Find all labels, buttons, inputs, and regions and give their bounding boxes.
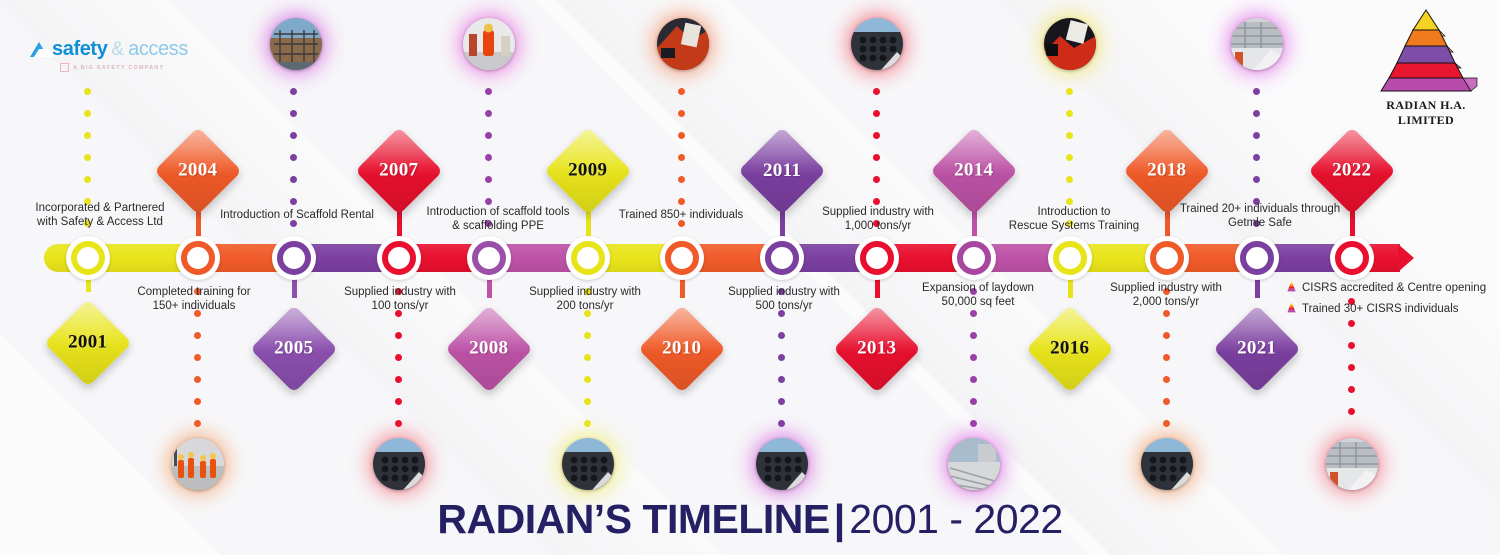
photo-crew-orange	[172, 438, 224, 490]
bubble-photo	[756, 438, 808, 490]
company-name: RADIAN H.A. LIMITED	[1360, 98, 1492, 128]
square-icon	[60, 63, 69, 72]
timeline-node[interactable]	[1330, 236, 1374, 280]
lbl-2004: Completed training for 150+ individuals	[99, 285, 289, 313]
cisrs-item: Trained 30+ CISRS individuals	[1286, 300, 1486, 318]
timeline-node[interactable]	[176, 236, 220, 280]
bubble-photo	[948, 438, 1000, 490]
timeline-node[interactable]	[377, 236, 421, 280]
lbl-2010: Trained 850+ individuals	[586, 208, 776, 222]
timeline-node[interactable]	[467, 236, 511, 280]
photo-pipe-stack-a	[373, 438, 425, 490]
timeline-node[interactable]	[855, 236, 899, 280]
timeline-node[interactable]	[760, 236, 804, 280]
timeline-node[interactable]	[660, 236, 704, 280]
safety-and-access-logo: safety & access A BIG SAFETY COMPANY	[30, 38, 188, 72]
bubble-photo	[1044, 18, 1096, 70]
lbl-2005: Introduction of Scaffold Rental	[202, 208, 392, 222]
lbl-2011: Supplied industry with 500 tons/yr	[689, 285, 879, 313]
photo-worker-ppe	[463, 18, 515, 70]
dotted-connector	[1163, 288, 1171, 442]
bubble-photo	[851, 18, 903, 70]
year-label: 2018	[1147, 160, 1186, 182]
year-label: 2004	[178, 160, 217, 182]
year-label: 2016	[1050, 338, 1089, 360]
lbl-2016: Introduction to Rescue Systems Training	[979, 205, 1169, 233]
lbl-2001: Incorporated & Partnered with Safety & A…	[5, 201, 195, 229]
lbl-2008: Introduction of scaffold tools & scaffol…	[403, 205, 593, 233]
lbl-2007: Supplied industry with 100 tons/yr	[305, 285, 495, 313]
bubble-photo	[270, 18, 322, 70]
year-label: 2013	[857, 338, 896, 360]
bubble-photo	[373, 438, 425, 490]
year-label: 2011	[763, 160, 801, 182]
bubble-photo	[172, 438, 224, 490]
timeline-node[interactable]	[566, 236, 610, 280]
cisrs-item-label: Trained 30+ CISRS individuals	[1302, 303, 1459, 315]
logo-word-access: access	[128, 38, 188, 61]
photo-pipe-stack-d	[1141, 438, 1193, 490]
timeline-node[interactable]	[952, 236, 996, 280]
photo-warehouse-2	[1326, 438, 1378, 490]
triangle-icon	[30, 42, 48, 57]
cisrs-bullet-list: CISRS accredited & Centre openingTrained…	[1286, 279, 1486, 321]
year-label: 2022	[1332, 160, 1371, 182]
photo-warehouse	[1231, 18, 1283, 70]
timeline-node[interactable]	[272, 236, 316, 280]
logo-word-safety: safety	[52, 38, 107, 61]
bubble-photo	[1326, 438, 1378, 490]
year-label: 2010	[662, 338, 701, 360]
title-bold: RADIAN’S TIMELINE	[437, 496, 829, 542]
lbl-2018: Supplied industry with 2,000 tons/yr	[1071, 281, 1261, 309]
bubble-photo	[562, 438, 614, 490]
year-label: 2007	[379, 160, 418, 182]
pyramid-bullet-icon	[1286, 279, 1297, 297]
year-label: 2014	[954, 160, 993, 182]
title-separator: |	[834, 496, 845, 542]
lbl-2013: Supplied industry with 1,000 tons/yr	[783, 205, 973, 233]
photo-pipe-stack-c	[756, 438, 808, 490]
photo-pipe-stack-top	[851, 18, 903, 70]
bubble-photo	[1231, 18, 1283, 70]
timeline-node[interactable]	[66, 236, 110, 280]
year-label: 2009	[568, 160, 607, 182]
cisrs-item: CISRS accredited & Centre opening	[1286, 279, 1486, 297]
photo-yard-view	[948, 438, 1000, 490]
bubble-photo	[1141, 438, 1193, 490]
timeline-node[interactable]	[1145, 236, 1189, 280]
year-label: 2021	[1237, 338, 1276, 360]
cisrs-item-label: CISRS accredited & Centre opening	[1302, 282, 1486, 294]
bubble-photo	[463, 18, 515, 70]
radian-ha-limited-logo: RADIAN H.A. LIMITED	[1360, 6, 1492, 128]
timeline-node[interactable]	[1048, 236, 1092, 280]
year-label: 2001	[68, 332, 107, 354]
bubble-photo	[657, 18, 709, 70]
lbl-2014: Expansion of laydown 50,000 sq feet	[883, 281, 1073, 309]
logo-tagline: A BIG SAFETY COMPANY	[73, 65, 164, 71]
year-label: 2008	[469, 338, 508, 360]
lbl-2021: Trained 20+ individuals through Getmle S…	[1165, 202, 1355, 230]
photo-pipe-stack-b	[562, 438, 614, 490]
pyramid-icon	[1365, 6, 1487, 92]
lbl-2009: Supplied industry with 200 tons/yr	[490, 285, 680, 313]
pyramid-bullet-icon	[1286, 300, 1297, 318]
title-years: 2001 - 2022	[849, 496, 1062, 542]
logo-ampersand: &	[111, 39, 124, 61]
page-title: RADIAN’S TIMELINE|2001 - 2022	[0, 496, 1500, 543]
year-label: 2005	[274, 338, 313, 360]
photo-site-equipment	[657, 18, 709, 70]
photo-scaffold-tower	[270, 18, 322, 70]
photo-red-machinery	[1044, 18, 1096, 70]
timeline-node[interactable]	[1235, 236, 1279, 280]
dotted-connector	[970, 288, 978, 442]
